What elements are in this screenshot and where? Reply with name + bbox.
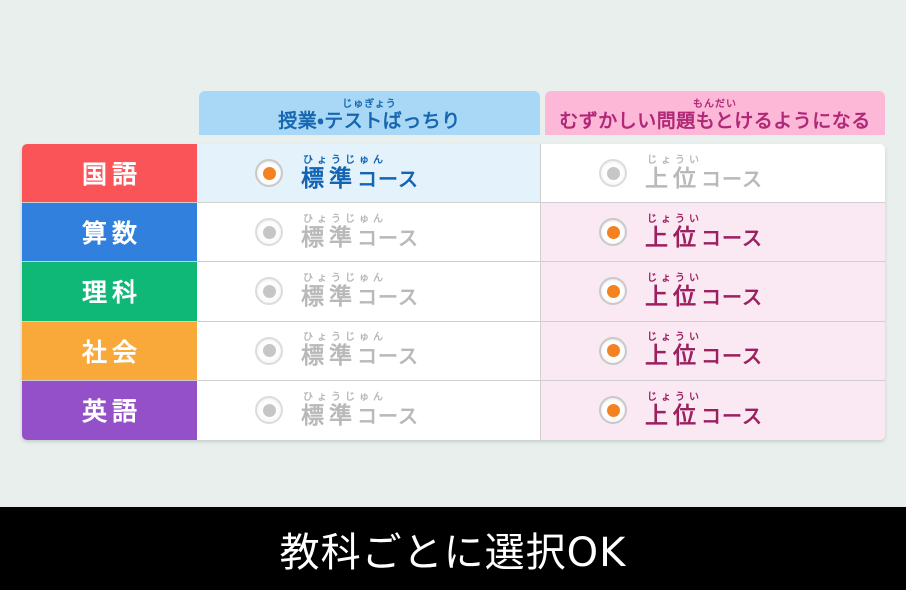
option-label-kanji: 標準: [301, 166, 357, 192]
option-label-kanji: 標準: [301, 343, 357, 369]
option-label-kanji: 標準: [301, 403, 357, 429]
option-label-kanji: 標準: [301, 284, 357, 310]
option-text-advanced-2: じょうい上位コース: [645, 214, 763, 251]
table-row: 英語ひょうじゅん標準コースじょうい上位コース: [22, 381, 885, 440]
option-cell-standard-5[interactable]: ひょうじゅん標準コース: [197, 381, 541, 440]
subject-label-2: 算数: [22, 203, 197, 261]
option-ruby: じょうい: [645, 332, 763, 343]
option-label-kanji: 上位: [645, 225, 701, 251]
radio-dot-icon: [263, 344, 276, 357]
option-cell-advanced-5[interactable]: じょうい上位コース: [541, 381, 885, 440]
option-label-kanji: 上位: [645, 166, 701, 192]
radio-button-standard-5-icon[interactable]: [255, 396, 283, 424]
option-label: 標準コース: [301, 285, 419, 310]
option-text-standard-5: ひょうじゅん標準コース: [301, 392, 419, 429]
radio-dot-icon: [607, 167, 620, 180]
option-label: 標準コース: [301, 167, 419, 192]
column-header-standard-title: 授業・テストばっちり: [278, 111, 460, 132]
radio-button-standard-2-icon[interactable]: [255, 218, 283, 246]
option-label-kanji: 上位: [645, 284, 701, 310]
option-label-kana: コース: [701, 285, 763, 309]
option-text-standard-1: ひょうじゅん標準コース: [301, 155, 419, 192]
radio-dot-icon: [607, 285, 620, 298]
radio-dot-icon: [263, 167, 276, 180]
option-label-kanji: 上位: [645, 343, 701, 369]
radio-button-advanced-2-icon[interactable]: [599, 218, 627, 246]
subject-label-5: 英語: [22, 381, 197, 440]
option-label-kana: コース: [701, 344, 763, 368]
option-cell-standard-3[interactable]: ひょうじゅん標準コース: [197, 262, 541, 320]
option-cell-standard-1[interactable]: ひょうじゅん標準コース: [197, 144, 541, 202]
option-label-kana: コース: [701, 404, 763, 428]
radio-dot-icon: [607, 226, 620, 239]
column-header-advanced-ruby: もんだい: [693, 100, 737, 110]
radio-button-standard-1-icon[interactable]: [255, 159, 283, 187]
radio-button-advanced-5-icon[interactable]: [599, 396, 627, 424]
option-cell-advanced-3[interactable]: じょうい上位コース: [541, 262, 885, 320]
option-label: 上位コース: [645, 226, 763, 251]
column-header-advanced-title: むずかしい問題もとけるようになる: [559, 111, 871, 132]
option-cell-advanced-1[interactable]: じょうい上位コース: [541, 144, 885, 202]
option-cell-advanced-4[interactable]: じょうい上位コース: [541, 322, 885, 380]
column-header-advanced: もんだい むずかしい問題もとけるようになる: [545, 91, 885, 135]
option-ruby: ひょうじゅん: [301, 273, 419, 284]
subject-label-1: 国語: [22, 144, 197, 202]
course-selection-table: 国語ひょうじゅん標準コースじょうい上位コース算数ひょうじゅん標準コースじょうい上…: [22, 144, 885, 440]
option-label: 上位コース: [645, 285, 763, 310]
radio-button-standard-4-icon[interactable]: [255, 337, 283, 365]
radio-button-advanced-1-icon[interactable]: [599, 159, 627, 187]
table-row: 社会ひょうじゅん標準コースじょうい上位コース: [22, 322, 885, 381]
caption-bar: 教科ごとに選択OK: [0, 507, 906, 590]
option-cell-standard-2[interactable]: ひょうじゅん標準コース: [197, 203, 541, 261]
option-ruby: じょうい: [645, 273, 763, 284]
option-label: 上位コース: [645, 344, 763, 369]
option-label: 上位コース: [645, 167, 763, 192]
radio-button-advanced-4-icon[interactable]: [599, 337, 627, 365]
option-label-kana: コース: [357, 167, 419, 191]
option-label: 標準コース: [301, 404, 419, 429]
subject-label-4: 社会: [22, 322, 197, 380]
table-row: 国語ひょうじゅん標準コースじょうい上位コース: [22, 144, 885, 203]
table-row: 算数ひょうじゅん標準コースじょうい上位コース: [22, 203, 885, 262]
option-ruby: ひょうじゅん: [301, 392, 419, 403]
option-label-kana: コース: [701, 167, 763, 191]
option-ruby: ひょうじゅん: [301, 155, 419, 166]
option-text-standard-3: ひょうじゅん標準コース: [301, 273, 419, 310]
column-header-standard: じゅぎょう 授業・テストばっちり: [199, 91, 540, 135]
option-ruby: ひょうじゅん: [301, 214, 419, 225]
option-label: 標準コース: [301, 344, 419, 369]
option-ruby: じょうい: [645, 392, 763, 403]
option-ruby: じょうい: [645, 214, 763, 225]
option-label-kanji: 上位: [645, 403, 701, 429]
subject-label-3: 理科: [22, 262, 197, 320]
radio-button-advanced-3-icon[interactable]: [599, 277, 627, 305]
option-text-advanced-1: じょうい上位コース: [645, 155, 763, 192]
option-cell-advanced-2[interactable]: じょうい上位コース: [541, 203, 885, 261]
option-label-kana: コース: [357, 344, 419, 368]
radio-dot-icon: [263, 404, 276, 417]
table-column-headers: じゅぎょう 授業・テストばっちり もんだい むずかしい問題もとけるようになる: [199, 91, 885, 135]
option-label: 上位コース: [645, 404, 763, 429]
table-row: 理科ひょうじゅん標準コースじょうい上位コース: [22, 262, 885, 321]
option-text-advanced-3: じょうい上位コース: [645, 273, 763, 310]
option-label-kana: コース: [357, 285, 419, 309]
option-ruby: ひょうじゅん: [301, 332, 419, 343]
option-label-kana: コース: [357, 226, 419, 250]
radio-dot-icon: [263, 285, 276, 298]
option-text-standard-4: ひょうじゅん標準コース: [301, 332, 419, 369]
caption-text: 教科ごとに選択OK: [280, 520, 627, 578]
option-label-kanji: 標準: [301, 225, 357, 251]
option-text-advanced-4: じょうい上位コース: [645, 332, 763, 369]
radio-dot-icon: [263, 226, 276, 239]
option-cell-standard-4[interactable]: ひょうじゅん標準コース: [197, 322, 541, 380]
option-label: 標準コース: [301, 226, 419, 251]
option-label-kana: コース: [357, 404, 419, 428]
option-text-advanced-5: じょうい上位コース: [645, 392, 763, 429]
option-text-standard-2: ひょうじゅん標準コース: [301, 214, 419, 251]
radio-button-standard-3-icon[interactable]: [255, 277, 283, 305]
radio-dot-icon: [607, 344, 620, 357]
screen-root: じゅぎょう 授業・テストばっちり もんだい むずかしい問題もとけるようになる 国…: [0, 0, 906, 590]
column-header-standard-ruby: じゅぎょう: [342, 100, 397, 110]
radio-dot-icon: [607, 404, 620, 417]
option-ruby: じょうい: [645, 155, 763, 166]
option-label-kana: コース: [701, 226, 763, 250]
